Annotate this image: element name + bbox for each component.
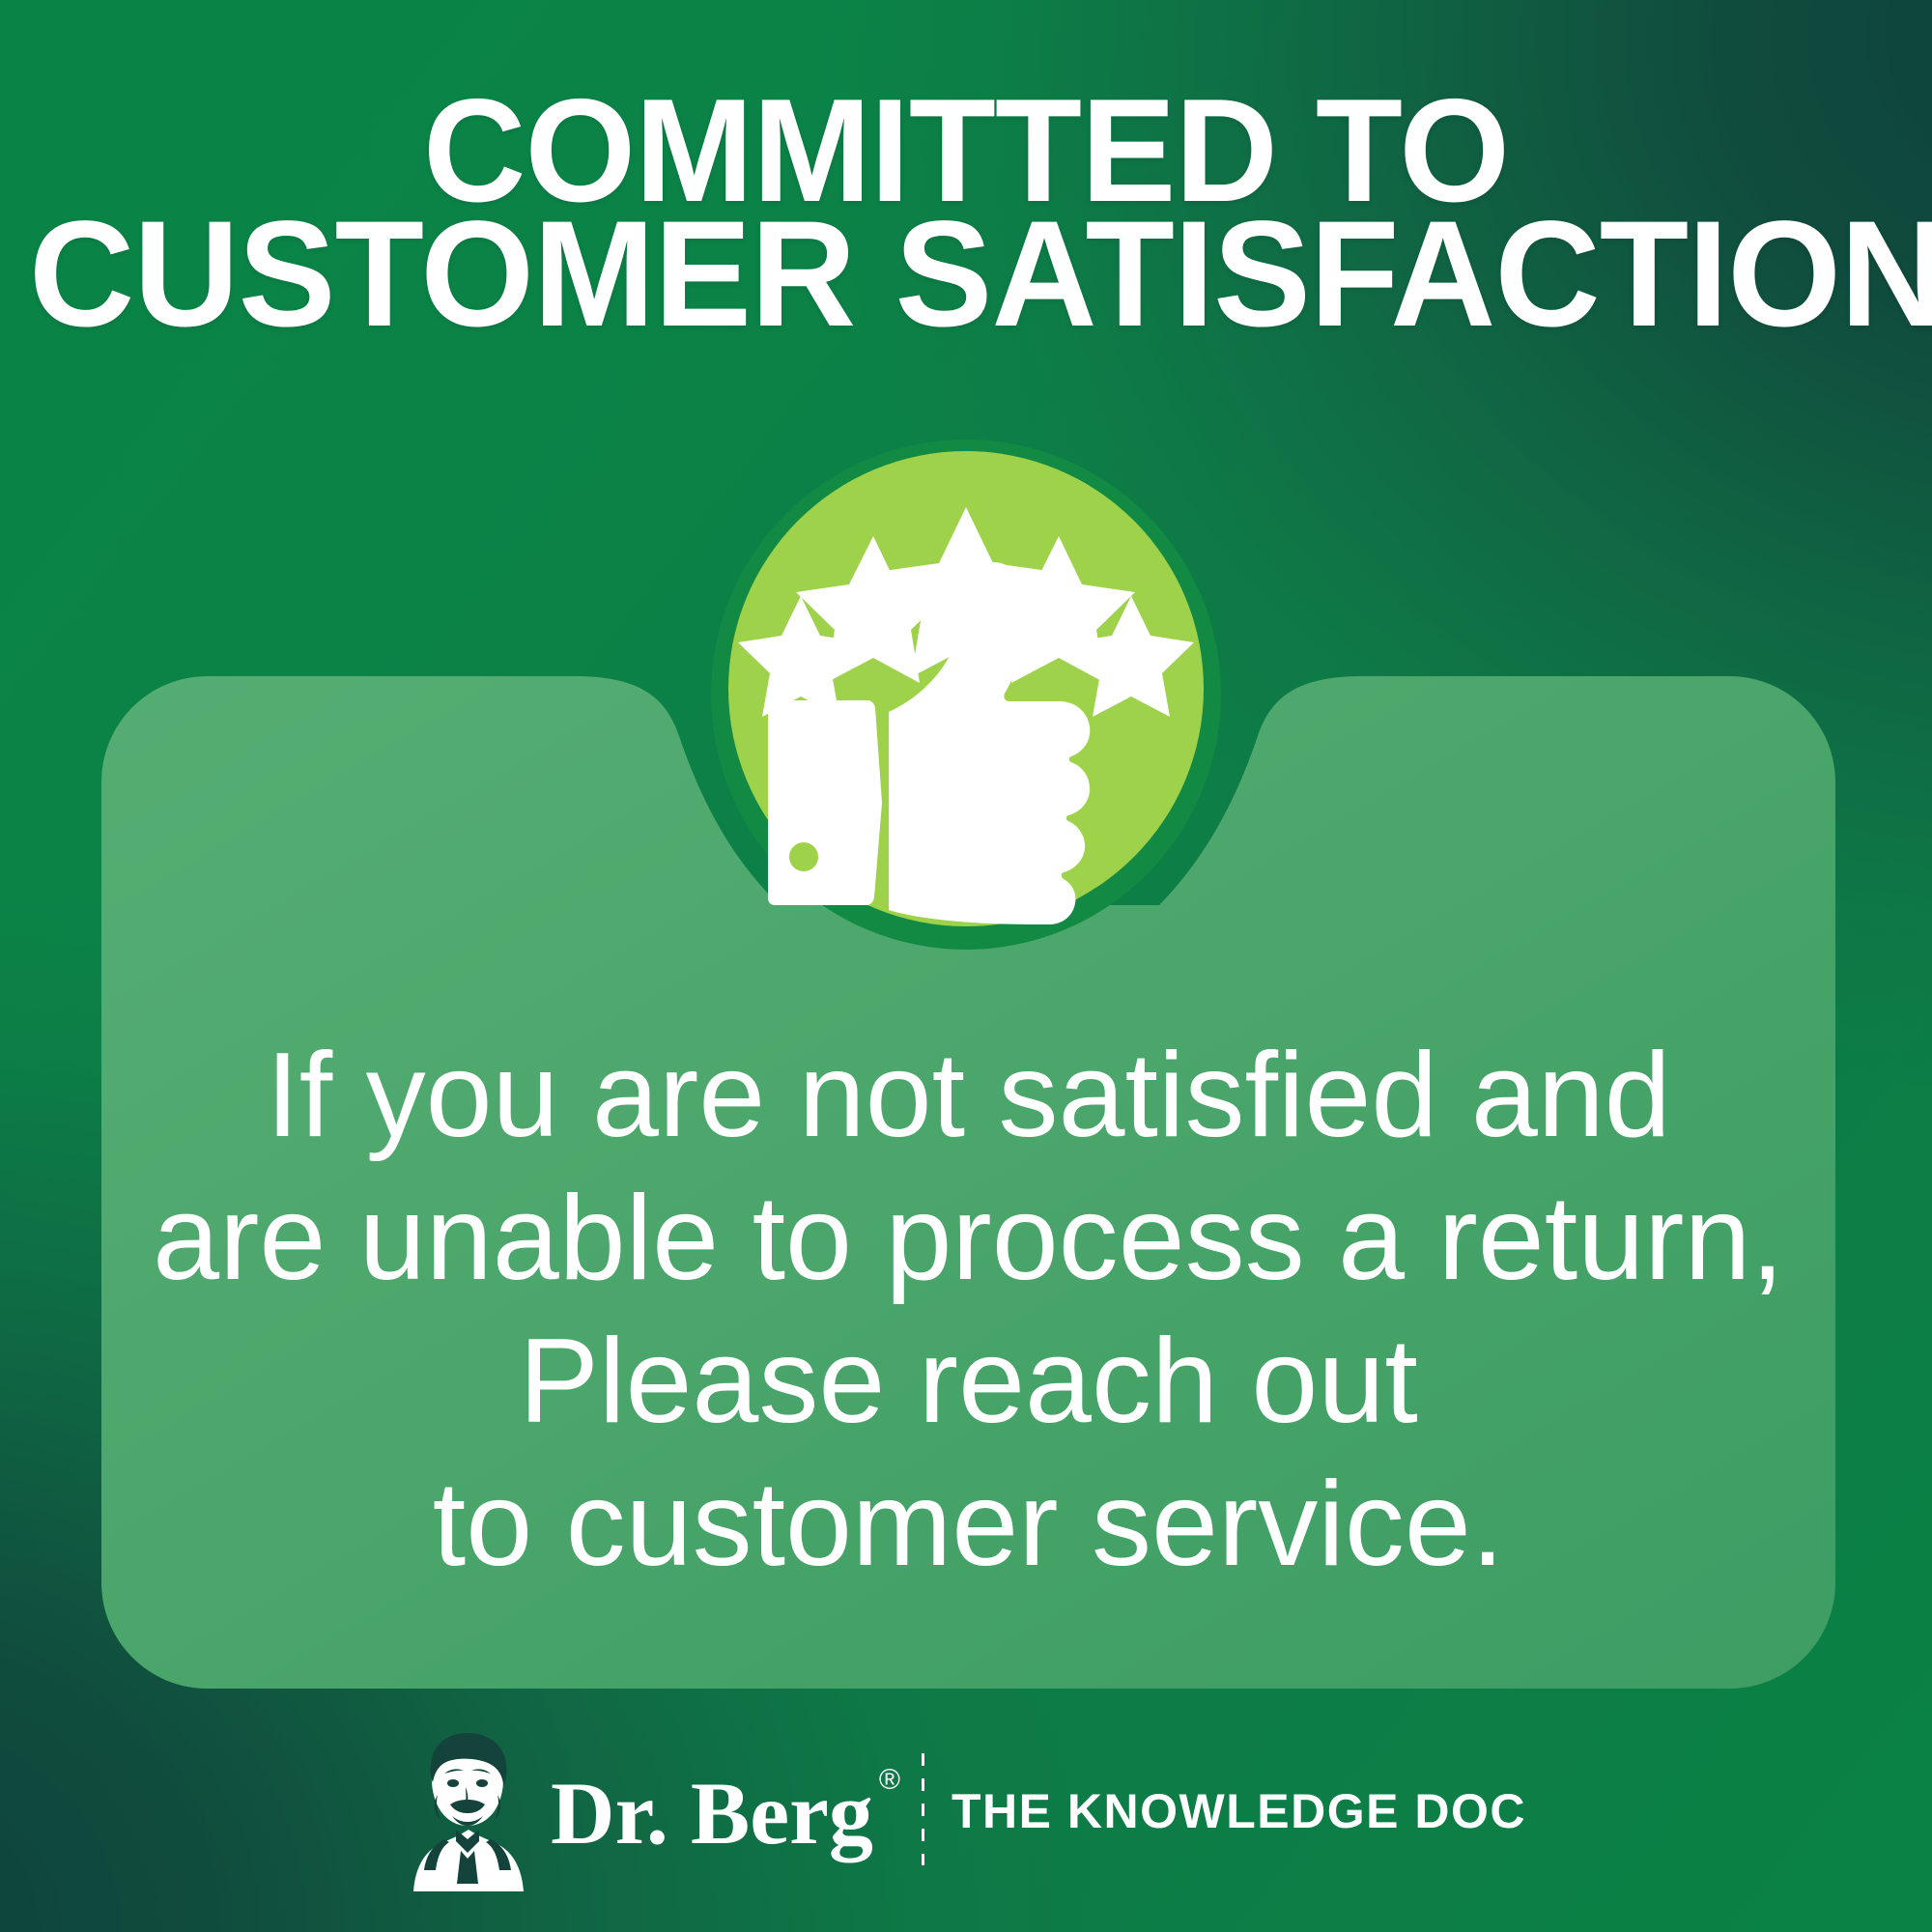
dr-berg-portrait-icon — [406, 1727, 529, 1891]
brand-name: Dr. Berg — [551, 1769, 873, 1858]
brand-tagline: THE KNOWLEDGE DOC — [952, 1787, 1526, 1835]
brand-lockup: Dr. Berg ® THE KNOWLEDGE DOC — [0, 1727, 1932, 1891]
message-body-line-2: are unable to process a return, — [101, 1167, 1835, 1310]
message-body-line-1: If you are not satisfied and — [101, 1024, 1835, 1167]
page-title: COMMITTED TO CUSTOMER SATISFACTION — [29, 89, 1903, 336]
page-title-line-2: CUSTOMER SATISFACTION — [29, 213, 1903, 336]
message-body-line-3: Please reach out — [101, 1310, 1835, 1453]
brand-divider — [922, 1753, 924, 1865]
thumbs-up-cuff — [768, 700, 882, 905]
message-body-line-4: to customer service. — [101, 1453, 1835, 1596]
satisfaction-badge — [711, 440, 1221, 950]
promo-graphic-canvas: COMMITTED TO CUSTOMER SATISFACTION — [0, 0, 1932, 1932]
cuff-button — [789, 842, 818, 871]
registered-trademark-icon: ® — [879, 1766, 900, 1795]
message-body: If you are not satisfied and are unable … — [101, 1024, 1835, 1596]
thumbs-up-five-stars-icon — [728, 451, 1204, 926]
